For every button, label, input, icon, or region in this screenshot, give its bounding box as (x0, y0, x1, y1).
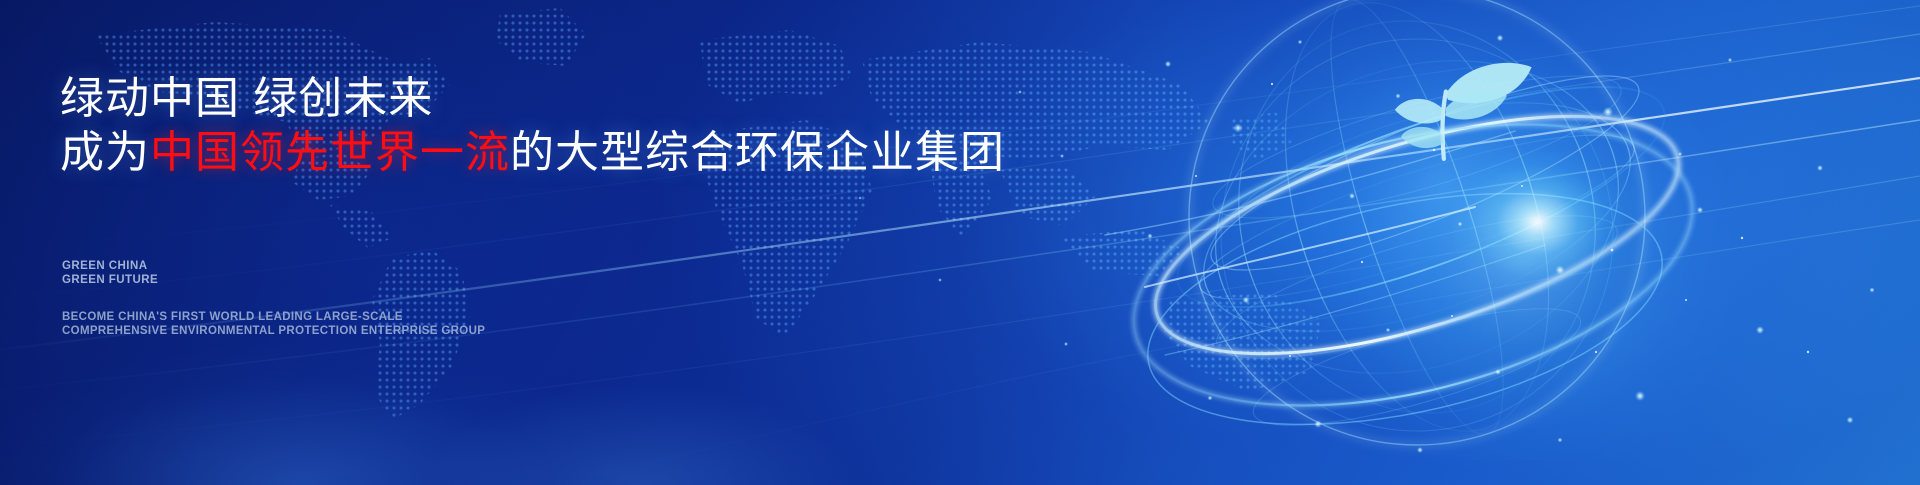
headline-secondary-highlight: 中国领先世界一流 (150, 128, 510, 177)
wireframe-globe (1045, 0, 1685, 485)
tagline-english: BECOME CHINA'S FIRST WORLD LEADING LARGE… (62, 310, 485, 338)
hero-banner: 绿动中国 绿创未来 成为中国领先世界一流的大型综合环保企业集团 GREEN CH… (0, 0, 1920, 485)
slogan-english: GREEN CHINA GREEN FUTURE (62, 259, 158, 287)
tagline-english-line2: COMPREHENSIVE ENVIRONMENTAL PROTECTION E… (62, 324, 485, 338)
slogan-english-line1: GREEN CHINA (62, 259, 158, 273)
slogan-english-line2: GREEN FUTURE (62, 273, 158, 287)
headline-secondary-suffix: 的大型综合环保企业集团 (510, 128, 1005, 177)
headline-secondary-prefix: 成为 (60, 128, 150, 177)
globe-ambient-glow (1300, 60, 1740, 460)
copy-block: 绿动中国 绿创未来 成为中国领先世界一流的大型综合环保企业集团 GREEN CH… (60, 0, 1020, 485)
headline-secondary: 成为中国领先世界一流的大型综合环保企业集团 (60, 130, 1005, 176)
headline-primary: 绿动中国 绿创未来 (60, 76, 433, 122)
core-light-flare (1452, 152, 1622, 292)
green-sprout-icon (1395, 63, 1532, 159)
tagline-english-line1: BECOME CHINA'S FIRST WORLD LEADING LARGE… (62, 310, 485, 324)
